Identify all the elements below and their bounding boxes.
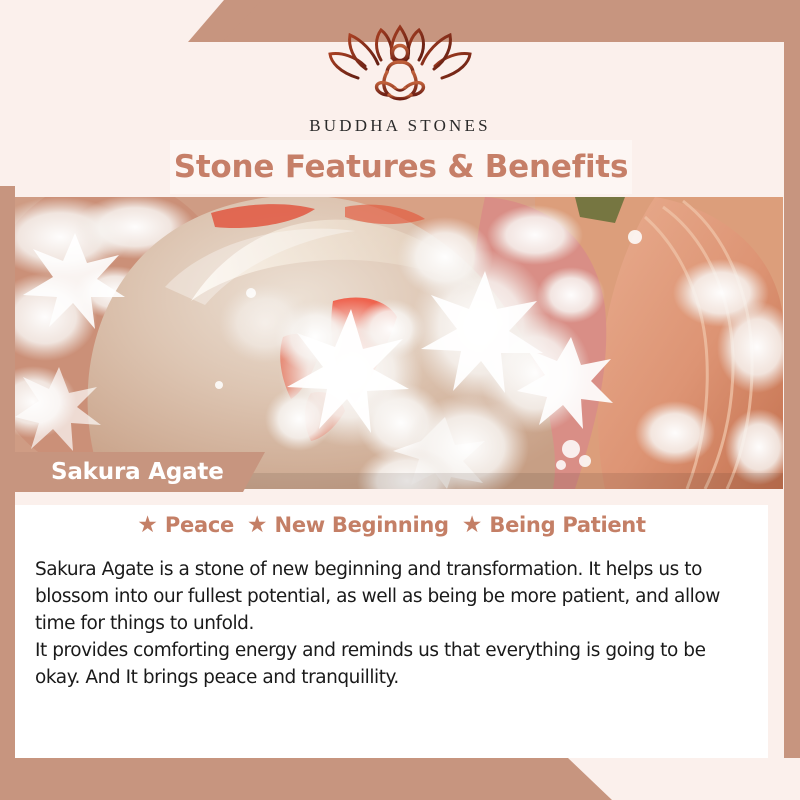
page-title: Stone Features & Benefits bbox=[174, 149, 629, 185]
brand-logo-block: BUDDHA STONES bbox=[0, 24, 800, 136]
stone-name-label: Sakura Agate bbox=[51, 459, 224, 485]
benefit-item-peace: ★ Peace bbox=[137, 513, 234, 537]
stone-name-tag: Sakura Agate bbox=[15, 452, 265, 492]
title-banner: Stone Features & Benefits bbox=[170, 140, 632, 194]
frame-band-right bbox=[784, 42, 800, 758]
star-icon: ★ bbox=[462, 513, 483, 536]
benefit-item-being-patient: ★ Being Patient bbox=[462, 513, 646, 537]
stone-features-infographic: BUDDHA STONES Stone Features & Benefits bbox=[0, 0, 800, 800]
content-panel: ★ Peace ★ New Beginning ★ Being Patient … bbox=[15, 489, 768, 758]
benefit-item-new-beginning: ★ New Beginning bbox=[247, 513, 449, 537]
benefits-row: ★ Peace ★ New Beginning ★ Being Patient bbox=[15, 513, 768, 537]
description-line: okay. And It brings peace and tranquilli… bbox=[35, 664, 753, 691]
benefit-label: Peace bbox=[165, 513, 234, 537]
description-line: blossom into our fullest potential, as w… bbox=[35, 583, 753, 610]
lotus-meditation-figure-icon bbox=[325, 24, 475, 110]
benefit-label: Being Patient bbox=[489, 513, 645, 537]
star-icon: ★ bbox=[137, 513, 158, 536]
sakura-agate-stone-photo bbox=[15, 197, 783, 489]
description-line: It provides comforting energy and remind… bbox=[35, 637, 753, 664]
description-block: Sakura Agate is a stone of new beginning… bbox=[35, 556, 753, 691]
frame-band-bottom bbox=[0, 758, 800, 800]
benefit-label: New Beginning bbox=[275, 513, 449, 537]
description-line: time for things to unfold. bbox=[35, 610, 753, 637]
description-line: Sakura Agate is a stone of new beginning… bbox=[35, 556, 753, 583]
star-icon: ★ bbox=[247, 513, 268, 536]
brand-name: BUDDHA STONES bbox=[309, 116, 491, 136]
frame-band-left bbox=[0, 186, 15, 758]
